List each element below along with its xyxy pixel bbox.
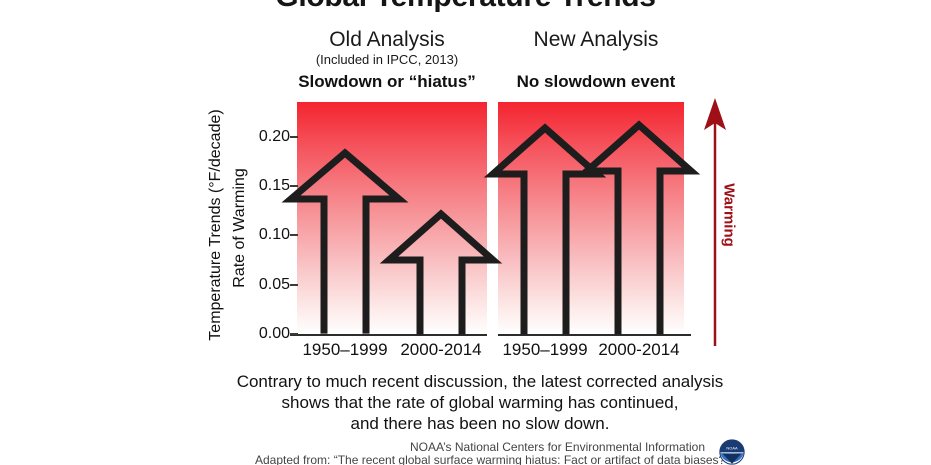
- y-tick-mark: [290, 234, 298, 236]
- noaa-seal-logo-icon: NOAA: [710, 439, 754, 465]
- y-tick-label: 0.15: [234, 177, 290, 195]
- y-tick-label: 0.10: [234, 226, 290, 244]
- page-title: Global Temperature Trends: [0, 0, 931, 14]
- x-tick-new-2000-2014: 2000-2014: [592, 340, 686, 360]
- y-axis-label-outer: Temperature Trends (°F/decade): [203, 100, 229, 350]
- y-tick-mark: [290, 284, 298, 286]
- old-analysis-subheading: (Included in IPCC, 2013): [287, 52, 487, 67]
- caption-line-2: shows that the rate of global warming ha…: [195, 392, 765, 413]
- y-tick-label: 0.05: [234, 276, 290, 294]
- bar-arrow-2000-2014: [381, 206, 501, 342]
- x-tick-new-1950-1999: 1950–1999: [498, 340, 592, 360]
- y-tick-label: 0.20: [234, 128, 290, 146]
- x-tick-old-2000-2014: 2000-2014: [393, 340, 489, 360]
- footer: NOAA’s National Centers for Environmenta…: [0, 440, 931, 465]
- y-tick-mark: [290, 333, 298, 335]
- y-tick-mark: [290, 185, 298, 187]
- y-axis-label-outer-text: Temperature Trends (°F/decade): [207, 109, 225, 340]
- caption-line-1: Contrary to much recent discussion, the …: [195, 371, 765, 392]
- y-tick-mark: [290, 136, 298, 138]
- y-tick-label: 0.00: [234, 325, 290, 343]
- footer-source-line: NOAA’s National Centers for Environmenta…: [255, 440, 705, 454]
- old-analysis-heading: Old Analysis: [287, 28, 487, 52]
- footer-adapted-from-line: Adapted from: “The recent global surface…: [255, 453, 705, 465]
- x-tick-old-1950-1999: 1950–1999: [297, 340, 393, 360]
- bar-arrow-2000-2014: [579, 117, 699, 342]
- caption: Contrary to much recent discussion, the …: [195, 371, 765, 434]
- old-analysis-callout: Slowdown or “hiatus”: [283, 72, 491, 92]
- warming-label: Warming: [714, 160, 744, 270]
- svg-text:NOAA: NOAA: [726, 445, 738, 450]
- new-analysis-callout: No slowdown event: [492, 72, 700, 92]
- caption-line-3: and there has been no slow down.: [195, 413, 765, 434]
- new-analysis-heading: New Analysis: [496, 28, 696, 52]
- chart-figure: Global Temperature Trends Old Analysis (…: [0, 0, 931, 465]
- warming-label-text: Warming: [721, 183, 738, 247]
